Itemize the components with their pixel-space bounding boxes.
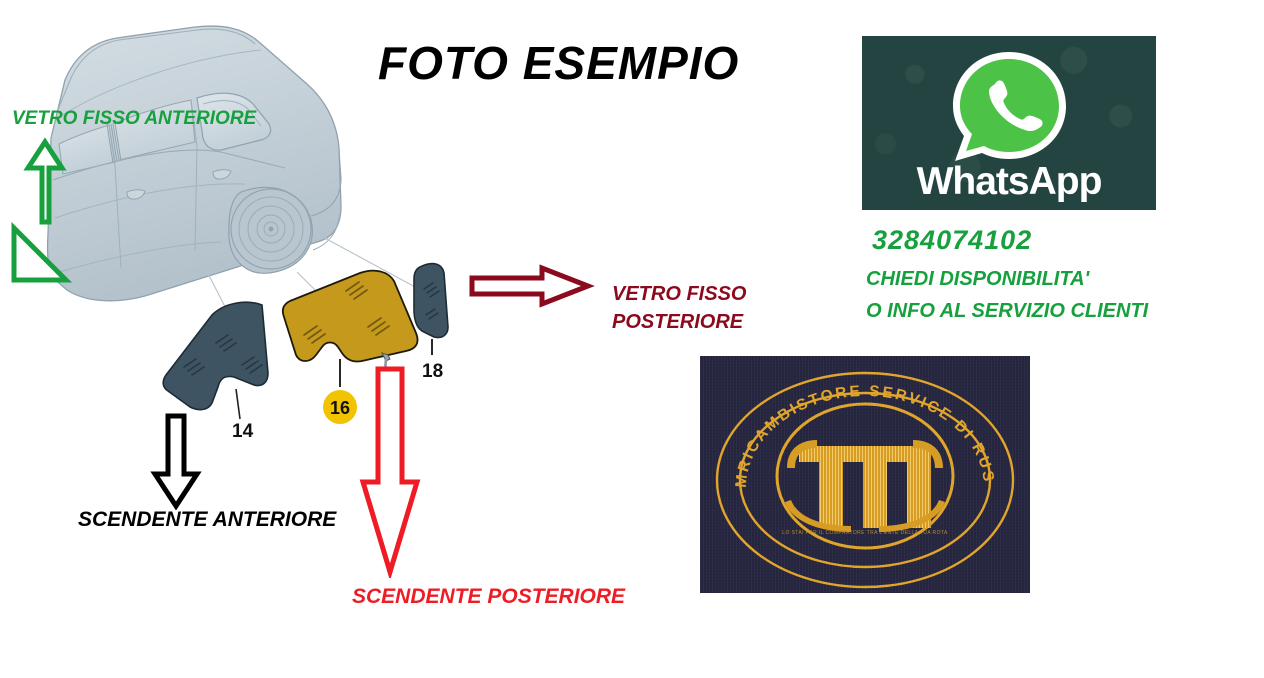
shop-logo-svg: MRICAMBISTORE SERVICE DI RUSSO MARCO (700, 356, 1030, 593)
label-scendente-anteriore: SCENDENTE ANTERIORE (78, 508, 336, 532)
shop-monogram (785, 440, 945, 532)
label-vetro-fisso-anteriore: VETRO FISSO ANTERIORE (12, 108, 256, 130)
page-title: FOTO ESEMPIO (378, 36, 739, 90)
label-vfp-line1: VETRO FISSO (612, 280, 746, 308)
poster-canvas: 14 16 17 18 FOT (0, 0, 1264, 678)
whatsapp-banner[interactable]: WhatsApp (862, 36, 1156, 210)
shop-motto: LO STAI PER IL COMPRATORE TRA L'ENTE DEL… (782, 530, 947, 536)
part-number-18: 18 (422, 361, 443, 382)
black-down-arrow-icon (148, 412, 210, 512)
contact-line-1: CHIEDI DISPONIBILITA' (866, 268, 1089, 291)
green-triangle-icon (8, 222, 74, 288)
phone-number[interactable]: 3284074102 (872, 225, 1032, 256)
whatsapp-icon (945, 46, 1073, 171)
label-vetro-fisso-posteriore: VETRO FISSO POSTERIORE (612, 280, 746, 336)
contact-line-2: O INFO AL SERVIZIO CLIENTI (866, 300, 1148, 323)
whatsapp-wordmark: WhatsApp (917, 160, 1102, 204)
part-number-14: 14 (232, 421, 254, 442)
label-scendente-posteriore: SCENDENTE POSTERIORE (352, 585, 625, 609)
dark-red-right-arrow-icon (468, 264, 596, 308)
label-vfp-line2: POSTERIORE (612, 308, 746, 336)
red-down-arrow-icon (358, 366, 422, 578)
part-number-16: 16 (330, 398, 350, 418)
shop-logo: MRICAMBISTORE SERVICE DI RUSSO MARCO LO … (700, 356, 1030, 593)
green-up-arrow-icon (16, 134, 76, 226)
